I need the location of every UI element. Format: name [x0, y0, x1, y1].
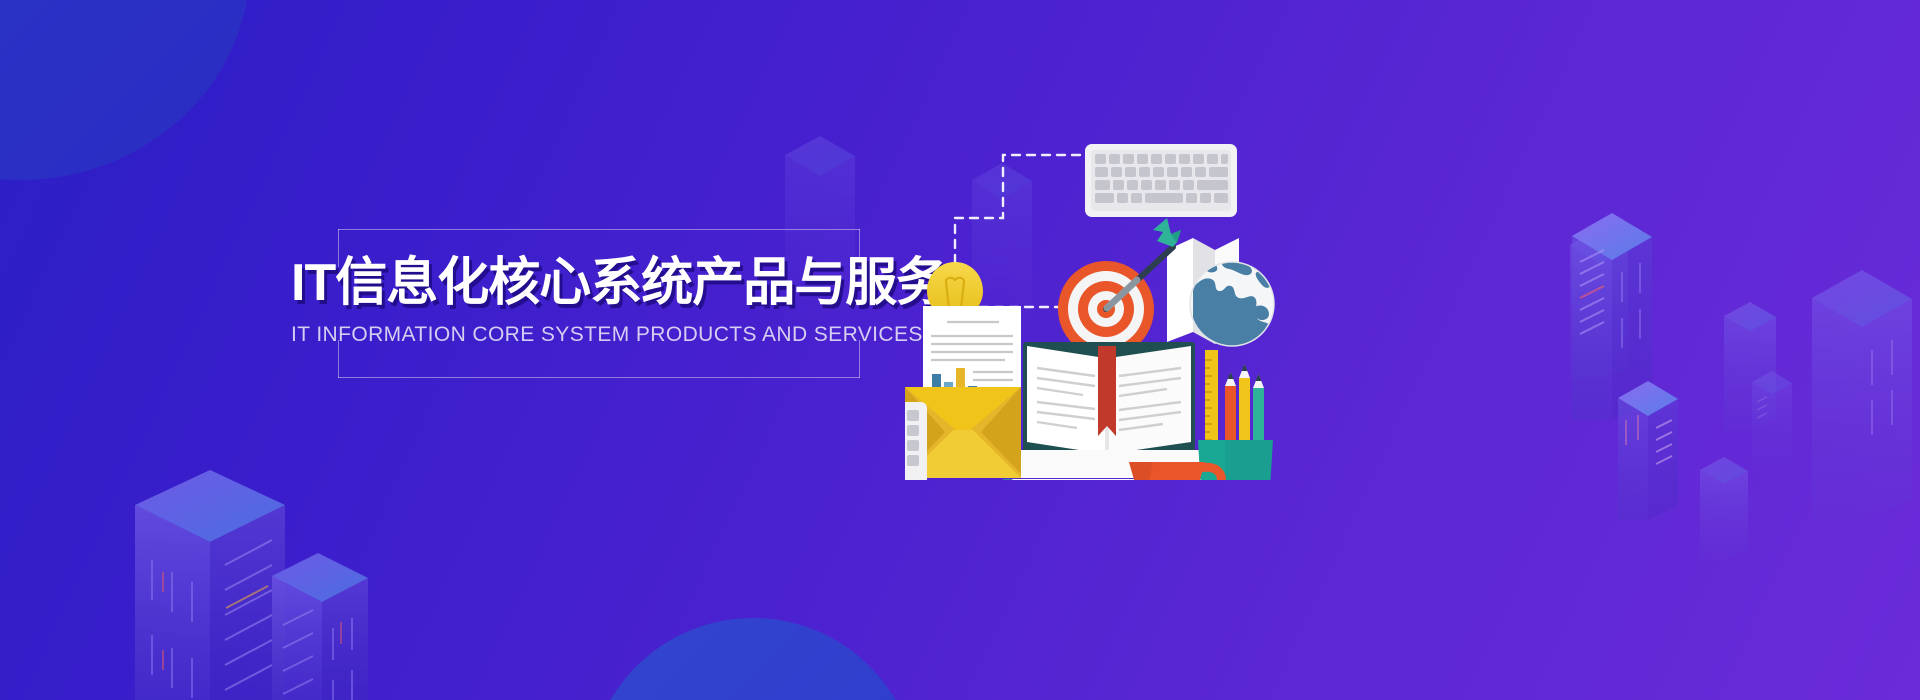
page-title: IT信息化核心系统产品与服务: [291, 257, 911, 309]
keyboard-top-icon: [1085, 144, 1237, 217]
building-right-g: [1812, 270, 1912, 520]
open-book-icon: [1023, 342, 1195, 458]
frame-border-bottom: [338, 377, 860, 378]
pencil-cup-icon: [1198, 350, 1273, 480]
building-right-f: [1700, 457, 1748, 560]
page-subtitle: IT INFORMATION CORE SYSTEM PRODUCTS AND …: [291, 323, 923, 347]
building-right-e: [1752, 371, 1792, 470]
building-left-tall: [135, 470, 285, 700]
building-left-short: [272, 553, 368, 700]
building-right-c: [1618, 381, 1678, 520]
frame-border-top: [338, 229, 860, 230]
hero-banner: IT信息化核心系统产品与服务 IT INFORMATION CORE SYSTE…: [0, 0, 1920, 700]
hero-text-frame: IT信息化核心系统产品与服务 IT INFORMATION CORE SYSTE…: [338, 229, 860, 378]
hero-illustration: [905, 110, 1305, 480]
globe-icon: [1190, 260, 1275, 346]
keyboard-bottom-icon: [905, 402, 927, 480]
